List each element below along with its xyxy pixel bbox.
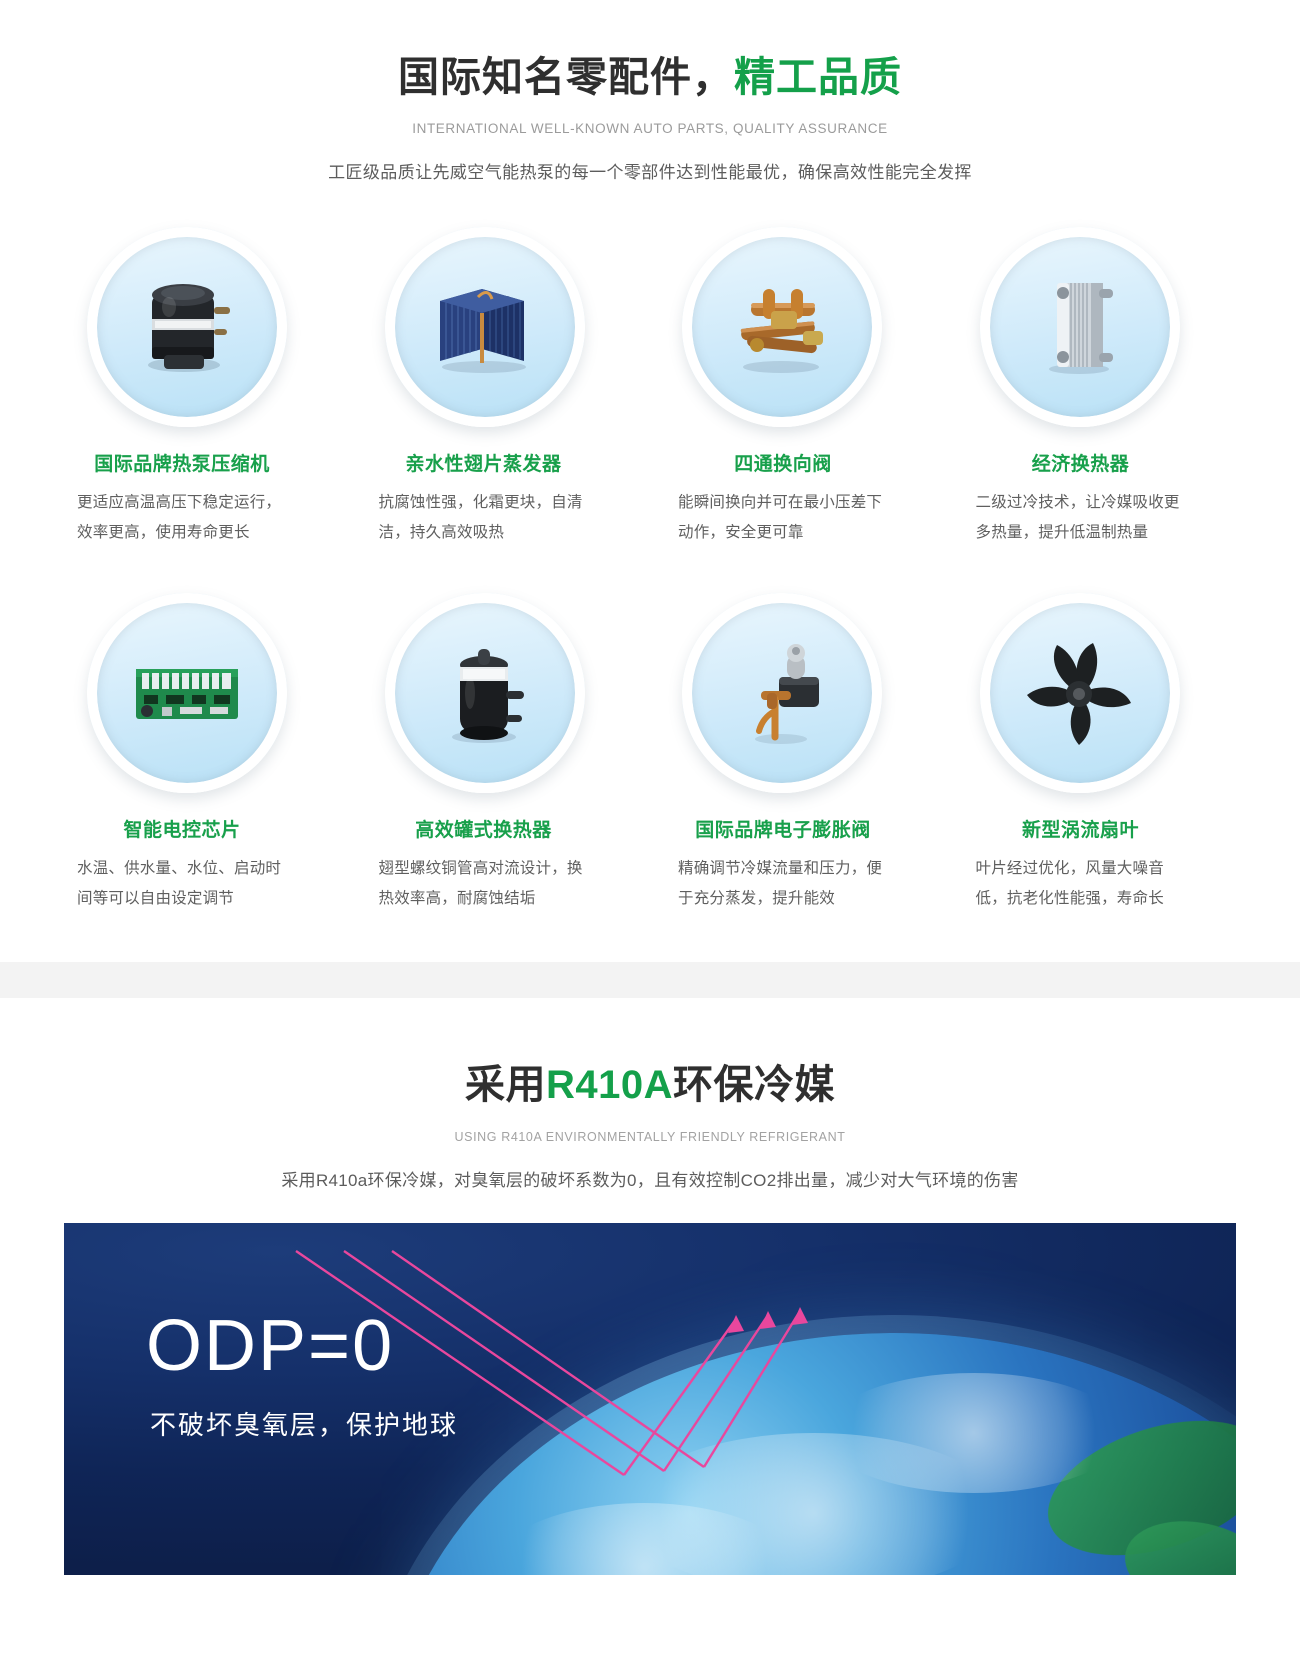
part-card-plate-exchanger[interactable]: 经济换热器 二级过冷技术，让冷媒吸收更多热量，提升低温制热量 [948,227,1246,548]
part-card-desc: 更适应高温高压下稳定运行，效率更高，使用寿命更长 [77,488,293,548]
part-card-title: 国际品牌热泵压缩机 [77,449,287,476]
part-card-evaporator[interactable]: 亲水性翅片蒸发器 抗腐蚀性强，化霜更块，自清洁，持久高效吸热 [353,227,651,548]
part-card-expansion-valve[interactable]: 国际品牌电子膨胀阀 精确调节冷媒流量和压力，便于充分蒸发，提升能效 [650,593,948,914]
part-card-desc: 叶片经过优化，风量大噪音低，抗老化性能强，寿命长 [976,854,1192,914]
part-card-fan-blade[interactable]: 新型涡流扇叶 叶片经过优化，风量大噪音低，抗老化性能强，寿命长 [948,593,1246,914]
part-image-frame [87,593,287,793]
part-card-title: 亲水性翅片蒸发器 [379,449,589,476]
part-card-desc: 抗腐蚀性强，化霜更块，自清洁，持久高效吸热 [379,488,595,548]
page-title: 国际知名零配件，精工品质 [0,52,1300,103]
part-card-title: 四通换向阀 [678,449,888,476]
page-title-accent: 精工品质 [734,54,902,100]
part-card-reversing-valve[interactable]: 四通换向阀 能瞬间换向并可在最小压差下动作，安全更可靠 [650,227,948,548]
refrigerant-title-accent: R410A [546,1063,673,1107]
parts-section: 国际知名零配件，精工品质 INTERNATIONAL WELL-KNOWN AU… [0,0,1300,998]
page-title-english: INTERNATIONAL WELL-KNOWN AUTO PARTS, QUA… [0,121,1300,136]
part-image-frame [682,227,882,427]
part-card-desc: 翅型螺纹铜管高对流设计，换热效率高，耐腐蚀结垢 [379,854,595,914]
part-card-title: 高效罐式换热器 [379,815,589,842]
part-card-desc: 精确调节冷媒流量和压力，便于充分蒸发，提升能效 [678,854,894,914]
part-image-frame [980,593,1180,793]
uv-rays-icon [64,1223,1236,1575]
axial-fan-blade-icon [1015,633,1145,753]
control-circuit-board-icon [122,633,252,753]
plate-heat-exchanger-icon [1015,267,1145,387]
part-card-compressor[interactable]: 国际品牌热泵压缩机 更适应高温高压下稳定运行，效率更高，使用寿命更长 [55,227,353,548]
refrigerant-title-english: USING R410A ENVIRONMENTALLY FRIENDLY REF… [0,1130,1300,1144]
part-image-frame [682,593,882,793]
scroll-compressor-icon [122,267,252,387]
odp-banner: ODP=0 不破坏臭氧层，保护地球 [64,1223,1236,1575]
odp-subline: 不破坏臭氧层，保护地球 [150,1405,458,1442]
part-card-desc: 水温、供水量、水位、启动时间等可以自由设定调节 [77,854,293,914]
refrigerant-description: 采用R410a环保冷媒，对臭氧层的破坏系数为0，且有效控制CO2排出量，减少对大… [0,1166,1300,1191]
refrigerant-title-prefix: 采用 [465,1063,546,1107]
finned-evaporator-icon [420,267,550,387]
part-card-title: 新型涡流扇叶 [976,815,1186,842]
section-divider [0,962,1300,998]
part-card-tank-exchanger[interactable]: 高效罐式换热器 翅型螺纹铜管高对流设计，换热效率高，耐腐蚀结垢 [353,593,651,914]
page-description: 工匠级品质让先威空气能热泵的每一个零部件达到性能最优，确保高效性能完全发挥 [0,158,1300,183]
part-card-title: 经济换热器 [976,449,1186,476]
refrigerant-title-suffix: 环保冷媒 [673,1063,835,1107]
part-image-frame [385,593,585,793]
tank-heat-exchanger-icon [420,633,550,753]
electronic-expansion-valve-icon [717,633,847,753]
part-card-desc: 二级过冷技术，让冷媒吸收更多热量，提升低温制热量 [976,488,1192,548]
four-way-reversing-valve-icon [717,267,847,387]
part-card-desc: 能瞬间换向并可在最小压差下动作，安全更可靠 [678,488,894,548]
part-card-title: 智能电控芯片 [77,815,287,842]
odp-headline: ODP=0 [146,1305,394,1387]
parts-grid: 国际品牌热泵压缩机 更适应高温高压下稳定运行，效率更高，使用寿命更长 [55,183,1245,914]
part-card-control-board[interactable]: 智能电控芯片 水温、供水量、水位、启动时间等可以自由设定调节 [55,593,353,914]
page-title-dark: 国际知名零配件， [398,54,734,100]
part-image-frame [385,227,585,427]
part-image-frame [87,227,287,427]
refrigerant-section: 采用R410A环保冷媒 USING R410A ENVIRONMENTALLY … [0,998,1300,1575]
part-image-frame [980,227,1180,427]
part-card-title: 国际品牌电子膨胀阀 [678,815,888,842]
refrigerant-title: 采用R410A环保冷媒 [0,1052,1300,1110]
